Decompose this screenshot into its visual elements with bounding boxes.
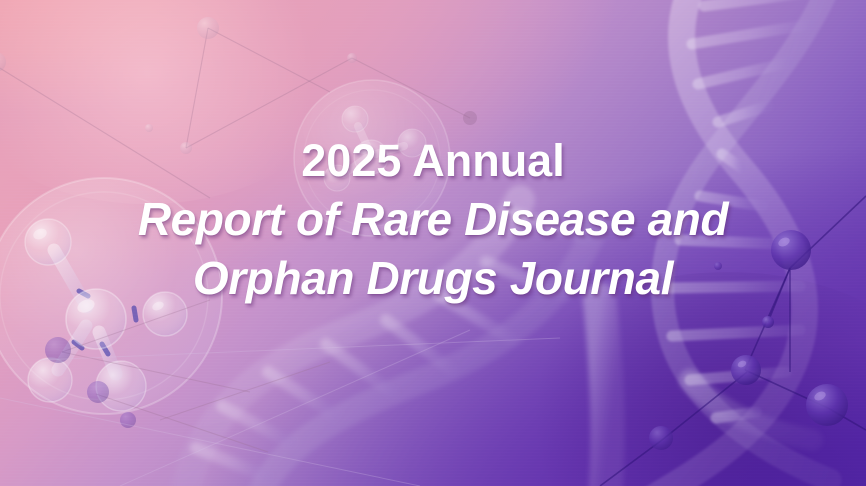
title-line-3: Orphan Drugs Journal — [22, 255, 844, 301]
title-line-2: Report of Rare Disease and — [22, 196, 844, 242]
title-line-1: 2025 Annual — [22, 138, 844, 183]
journal-cover-banner: 2025 Annual Report of Rare Disease and O… — [0, 0, 866, 486]
cover-title: 2025 Annual Report of Rare Disease and O… — [0, 138, 866, 301]
